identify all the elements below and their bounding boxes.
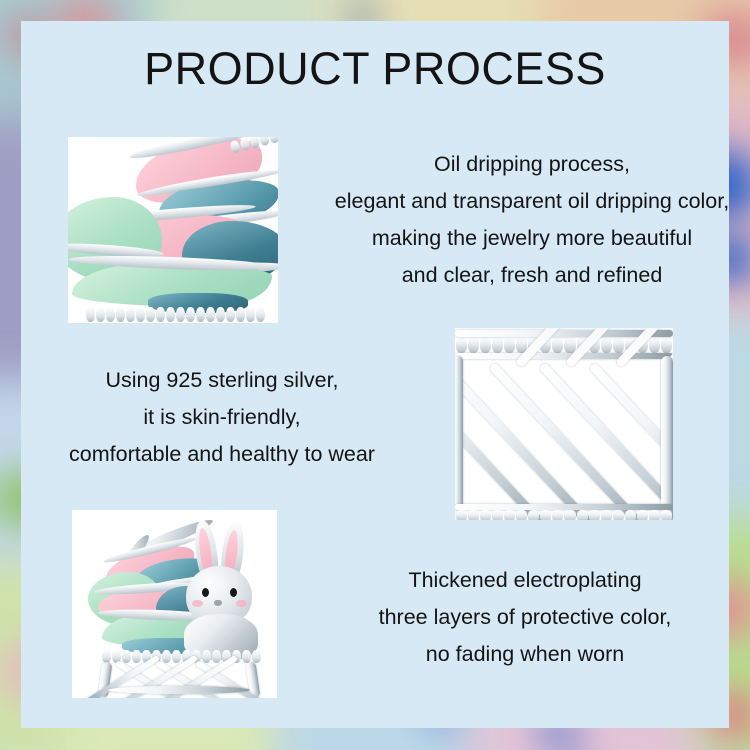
silver-line-1: Using 925 sterling silver, [32,362,412,399]
oil-line-2: elegant and transparent oil dripping col… [332,183,732,220]
silver-line-2: it is skin-friendly, [32,399,412,436]
bunny-basket-charm-photo [72,510,277,698]
plating-line-3: no fading when worn [330,636,720,673]
enamel-macro-photo [68,137,278,323]
sterling-silver-text-block: Using 925 sterling silver, it is skin-fr… [32,362,412,473]
page-title: PRODUCT PROCESS [0,46,750,92]
silver-lattice-macro-photo [455,328,673,520]
silver-line-3: comfortable and healthy to wear [32,436,412,473]
plating-line-2: three layers of protective color, [330,599,720,636]
oil-line-4: and clear, fresh and refined [332,257,732,294]
oil-dripping-text-block: Oil dripping process, elegant and transp… [332,146,732,294]
plating-line-1: Thickened electroplating [330,562,720,599]
product-process-infographic: PRODUCT PROCESS [0,0,750,750]
electroplating-text-block: Thickened electroplating three layers of… [330,562,720,673]
oil-line-3: making the jewelry more beautiful [332,220,732,257]
oil-line-1: Oil dripping process, [332,146,732,183]
